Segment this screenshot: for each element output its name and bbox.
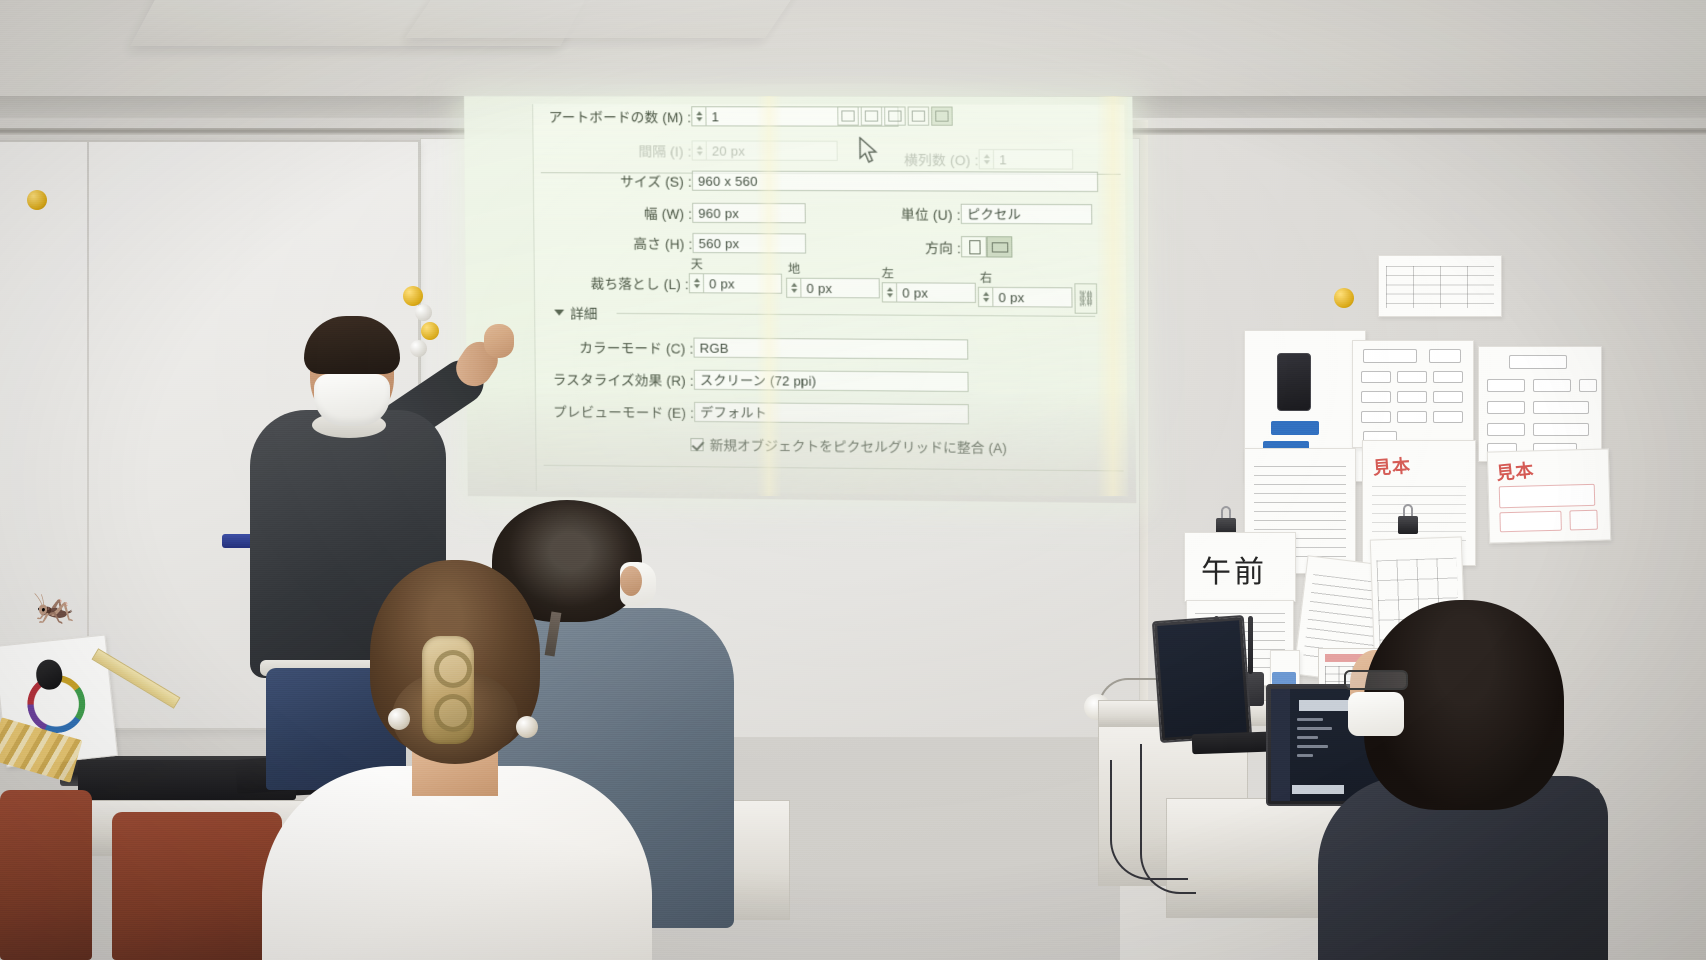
new-document-dialog[interactable]: アートボードの数 (M) : 1 間隔 (I) : 20 px 横列数 (O) xyxy=(464,96,1136,503)
checkbox-checked-icon[interactable] xyxy=(690,438,703,451)
glasses-icon xyxy=(1344,670,1408,690)
form-cell xyxy=(1533,423,1589,436)
power-cable xyxy=(1140,744,1196,894)
bleed-left-field[interactable]: 0 px xyxy=(896,282,976,303)
form-cell xyxy=(1397,391,1427,403)
bleed-left-header: 左 xyxy=(882,264,894,281)
width-label: 幅 (W) : xyxy=(541,202,692,223)
columns-label: 横列数 (O) : xyxy=(889,149,979,169)
form-cell xyxy=(1487,379,1525,392)
spacing-field[interactable]: 20 px xyxy=(706,140,838,160)
form-cell xyxy=(1397,371,1427,383)
ceiling-beam-secondary xyxy=(405,0,815,38)
raster-effect-row[interactable]: ラスタライズ効果 (R) : スクリーン (72 ppi) xyxy=(523,368,969,392)
bleed-bottom-stepper[interactable] xyxy=(786,278,800,298)
chair-left-a xyxy=(0,790,92,960)
arrange-grid-by-row-icon[interactable] xyxy=(837,106,859,125)
align-pixel-grid-row[interactable]: 新規オブジェクトをピクセルグリッドに整合 (A) xyxy=(690,434,1007,457)
laptop-center-display xyxy=(1157,620,1247,737)
magnet-yellow xyxy=(403,286,423,306)
poster-form-grid-b xyxy=(1478,346,1602,462)
orientation-portrait-icon[interactable] xyxy=(961,236,987,257)
magnet-yellow xyxy=(27,190,47,210)
student-woman-white-top xyxy=(262,560,662,960)
preview-mode-dropdown[interactable]: デフォルト xyxy=(694,402,969,425)
poster-sample-layout: 見本 xyxy=(1487,448,1611,543)
units-dropdown[interactable]: ピクセル xyxy=(961,204,1093,225)
size-dropdown[interactable]: 960 x 560 xyxy=(692,171,1098,192)
instructor-pointing-hand xyxy=(484,324,514,358)
morning-sign-text: 午前 xyxy=(1201,547,1267,591)
blue-button-mock xyxy=(1271,421,1319,435)
projected-illustrator-dialog[interactable]: アートボードの数 (M) : 1 間隔 (I) : 20 px 横列数 (O) xyxy=(464,96,1136,503)
arrange-grid-by-column-icon[interactable] xyxy=(861,106,883,125)
columns-row[interactable]: 横列数 (O) : 1 xyxy=(889,149,1074,170)
form-cell xyxy=(1433,371,1463,383)
orientation-label: 方向 : xyxy=(910,236,961,256)
bleed-row[interactable]: 裁ち落とし (L) : 0 px xyxy=(542,272,782,293)
bleed-label: 裁ち落とし (L) : xyxy=(542,272,689,293)
form-cell xyxy=(1361,391,1391,403)
preview-mode-row[interactable]: プレビューモード (E) : デフォルト xyxy=(523,400,969,424)
raster-effect-dropdown[interactable]: スクリーン (72 ppi) xyxy=(694,370,969,392)
form-cell xyxy=(1429,349,1461,363)
form-cell xyxy=(1533,379,1571,392)
artboard-count-label: アートボードの数 (M) : xyxy=(540,106,691,126)
columns-stepper[interactable] xyxy=(979,149,994,169)
bleed-right-header: 右 xyxy=(980,269,992,286)
bleed-left-stepper[interactable] xyxy=(882,282,896,302)
bleed-right-stepper[interactable] xyxy=(978,287,993,307)
form-cell xyxy=(1487,423,1525,436)
sample-stamp: 見本 xyxy=(1372,452,1412,481)
classroom-photo-scene: 🦗 アートボードの数 (M) : 1 xyxy=(0,0,1706,960)
form-cell xyxy=(1579,379,1597,392)
artboard-arrange-buttons[interactable] xyxy=(837,106,953,125)
triangle-down-icon[interactable] xyxy=(554,310,564,316)
binder-clip xyxy=(1396,504,1420,534)
face-mask-icon xyxy=(1348,692,1404,736)
magnet-yellow xyxy=(1334,288,1354,308)
size-label: サイズ (S) : xyxy=(541,170,692,191)
arrange-by-column-icon[interactable] xyxy=(908,106,930,125)
bleed-link-icon[interactable]: ⛓ xyxy=(1074,283,1097,314)
insect-decoration: 🦗 xyxy=(33,580,59,634)
units-label: 単位 (U) : xyxy=(889,203,961,223)
router-antenna xyxy=(1248,616,1253,674)
form-cell xyxy=(1487,401,1525,414)
instructor-hair xyxy=(304,316,400,374)
poster-schedule-table xyxy=(1378,255,1502,317)
change-to-right-to-left-icon[interactable] xyxy=(931,107,953,126)
form-cell xyxy=(1363,349,1417,363)
student-woman-right-glasses xyxy=(1288,600,1588,960)
earring-left xyxy=(388,708,410,730)
height-field[interactable]: 560 px xyxy=(692,233,806,254)
bleed-top-stepper[interactable] xyxy=(689,273,703,293)
form-cell xyxy=(1533,401,1589,414)
form-cell xyxy=(1433,411,1463,423)
bleed-left-group[interactable]: 0 px xyxy=(882,282,976,303)
arrange-by-row-icon[interactable] xyxy=(884,106,906,125)
form-cell xyxy=(1509,355,1567,369)
earring-right xyxy=(516,716,538,738)
color-mode-label: カラーモード (C) : xyxy=(542,337,693,358)
advanced-disclosure[interactable]: 詳細 xyxy=(554,303,597,323)
face-mask-icon xyxy=(314,374,390,426)
form-cell xyxy=(1397,411,1427,423)
spacing-label: 間隔 (I) : xyxy=(575,140,692,160)
raster-effect-label: ラスタライズ効果 (R) : xyxy=(523,368,694,389)
bleed-bottom-field[interactable]: 0 px xyxy=(800,278,880,299)
morning-sign: 午前 xyxy=(1184,532,1296,602)
height-label: 高さ (H) : xyxy=(541,232,692,253)
align-pixel-grid-label: 新規オブジェクトをピクセルグリッドに整合 (A) xyxy=(710,434,1007,457)
layout-box xyxy=(1499,484,1596,509)
preview-mode-label: プレビューモード (E) : xyxy=(523,400,694,422)
phone-mockup-icon xyxy=(1277,353,1311,411)
artboard-count-stepper[interactable] xyxy=(691,106,705,126)
color-mode-row[interactable]: カラーモード (C) : RGB xyxy=(542,337,968,360)
form-cell xyxy=(1433,391,1463,403)
form-cell xyxy=(1361,411,1391,423)
poster-form-grid-a xyxy=(1352,340,1474,448)
bleed-bottom-header: 地 xyxy=(788,260,800,277)
bleed-top-field[interactable]: 0 px xyxy=(703,273,782,294)
bleed-right-field[interactable]: 0 px xyxy=(992,287,1072,308)
units-row[interactable]: 単位 (U) : ピクセル xyxy=(889,203,1092,224)
width-field[interactable]: 960 px xyxy=(692,203,806,224)
orientation-row[interactable]: 方向 : xyxy=(910,236,1013,258)
height-row[interactable]: 高さ (H) : 560 px xyxy=(541,232,806,253)
color-mode-dropdown[interactable]: RGB xyxy=(693,338,968,360)
columns-field[interactable]: 1 xyxy=(993,149,1073,169)
layout-box xyxy=(1499,511,1562,533)
chair-left-b xyxy=(112,812,282,960)
laptop-center-screen[interactable] xyxy=(1152,615,1252,743)
advanced-label: 詳細 xyxy=(570,303,597,323)
spacing-row[interactable]: 間隔 (I) : 20 px xyxy=(575,140,838,161)
form-cell xyxy=(1361,371,1391,383)
bleed-top-header: 天 xyxy=(691,255,703,272)
size-row[interactable]: サイズ (S) : 960 x 560 xyxy=(541,170,1098,192)
bleed-bottom-group[interactable]: 0 px xyxy=(786,278,880,299)
layout-box xyxy=(1569,510,1598,531)
bleed-right-group[interactable]: 0 px xyxy=(978,287,1073,308)
table-grid xyxy=(1386,266,1493,308)
spacing-stepper[interactable] xyxy=(692,140,706,160)
hair-clip-icon xyxy=(422,636,474,744)
orientation-landscape-icon[interactable] xyxy=(987,236,1013,257)
sample-stamp-2: 見本 xyxy=(1495,456,1535,486)
width-row[interactable]: 幅 (W) : 960 px xyxy=(541,202,806,223)
